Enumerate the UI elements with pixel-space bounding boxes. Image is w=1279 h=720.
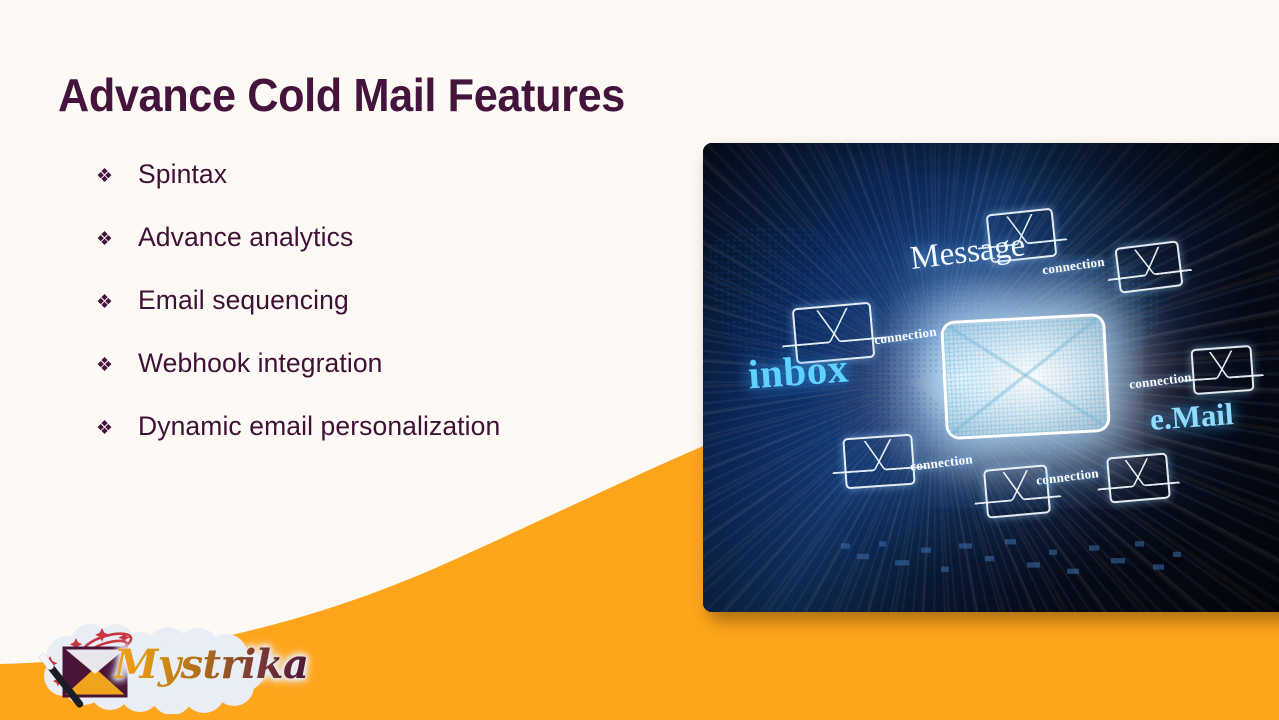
envelope-outline-icon <box>1190 345 1254 395</box>
envelope-outline-icon <box>842 434 915 490</box>
envelope-outline-icon <box>1106 452 1171 503</box>
diamond-bullet-icon: ❖ <box>96 347 138 381</box>
mystrika-logo[interactable]: Mystrika <box>28 618 276 714</box>
list-item-label: Advance analytics <box>138 221 353 253</box>
envelope-flap <box>943 315 1108 436</box>
diamond-bullet-icon: ❖ <box>96 284 138 318</box>
envelope-outline-icon <box>986 208 1058 263</box>
envelope-outline-icon <box>792 301 876 363</box>
hero-image: Message inbox e.Mail connection connecti… <box>703 143 1279 612</box>
diamond-bullet-icon: ❖ <box>96 410 138 444</box>
list-item-label: Spintax <box>138 158 227 190</box>
list-item: ❖ Spintax <box>96 158 696 221</box>
envelope-outline-icon <box>1114 240 1183 294</box>
central-glowing-envelope-icon <box>940 312 1111 439</box>
diamond-bullet-icon: ❖ <box>96 158 138 192</box>
list-item: ❖ Webhook integration <box>96 347 696 410</box>
envelope-outline-icon <box>983 464 1051 518</box>
list-item: ❖ Email sequencing <box>96 284 696 347</box>
diamond-bullet-icon: ❖ <box>96 221 138 255</box>
feature-list: ❖ Spintax ❖ Advance analytics ❖ Email se… <box>96 158 696 473</box>
slide: Advance Cold Mail Features ❖ Spintax ❖ A… <box>0 0 1279 720</box>
pixel-strip-icon <box>835 537 1195 579</box>
list-item-label: Email sequencing <box>138 284 349 316</box>
page-title: Advance Cold Mail Features <box>58 68 625 122</box>
list-item: ❖ Advance analytics <box>96 221 696 284</box>
logo-wordmark: Mystrika <box>114 641 308 688</box>
list-item: ❖ Dynamic email personalization <box>96 410 696 473</box>
list-item-label: Webhook integration <box>138 347 383 379</box>
list-item-label: Dynamic email personalization <box>138 410 500 442</box>
